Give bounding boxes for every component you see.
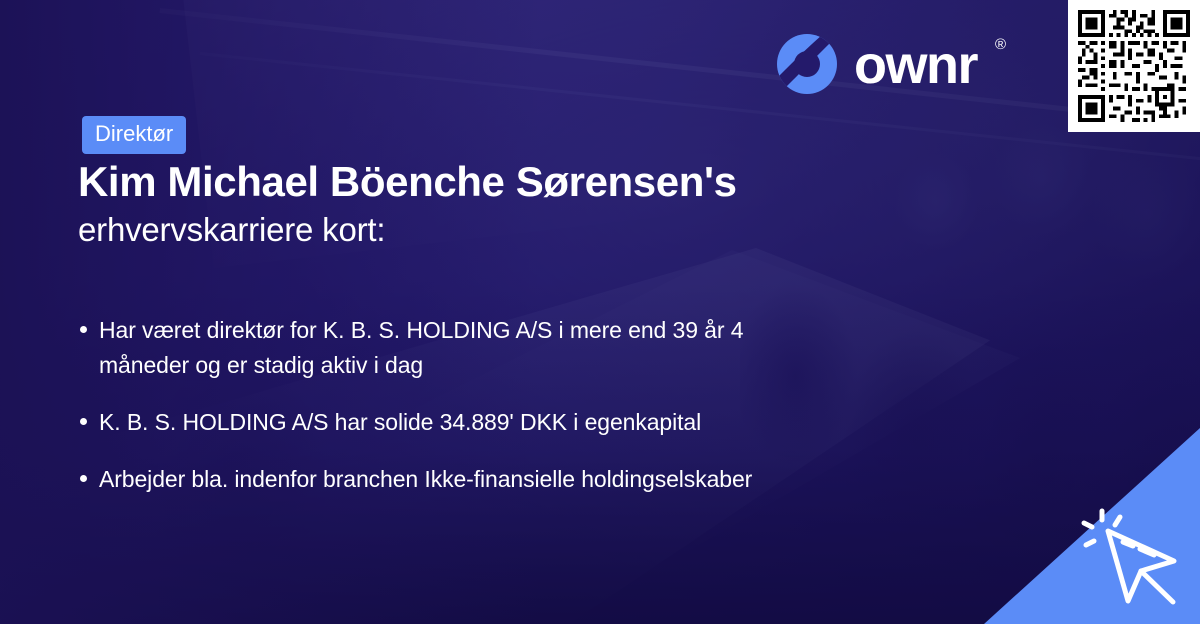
headline-subtitle: erhvervskarriere kort: (78, 209, 1078, 250)
ownr-logo[interactable]: ownr ® (776, 33, 1004, 95)
qr-code-icon (1078, 10, 1190, 122)
click-cursor-icon (1078, 503, 1188, 608)
page-title: Kim Michael Böenche Sørensen's erhvervsk… (78, 158, 1078, 250)
qr-code[interactable] (1068, 0, 1200, 132)
career-facts-list: Har været direktør for K. B. S. HOLDING … (80, 313, 1080, 497)
background-vignette (0, 0, 1200, 624)
ownr-circle-swoosh-icon (776, 33, 838, 95)
list-item: Arbejder bla. indenfor branchen Ikke-fin… (80, 462, 1080, 497)
list-item-text: Arbejder bla. indenfor branchen Ikke-fin… (99, 462, 752, 497)
list-item: Har været direktør for K. B. S. HOLDING … (80, 313, 1080, 383)
bullet-dot-icon (80, 475, 87, 482)
list-item-text: Har været direktør for K. B. S. HOLDING … (99, 313, 839, 383)
list-item: K. B. S. HOLDING A/S har solide 34.889' … (80, 405, 1080, 440)
bullet-dot-icon (80, 418, 87, 425)
role-badge: Direktør (82, 116, 186, 154)
promo-card: ownr ® (0, 0, 1200, 624)
registered-trademark-icon: ® (995, 36, 1006, 53)
ownr-wordmark: ownr (854, 38, 977, 92)
headline-person-name: Kim Michael Böenche Sørensen's (78, 158, 1078, 205)
bullet-dot-icon (80, 326, 87, 333)
list-item-text: K. B. S. HOLDING A/S har solide 34.889' … (99, 405, 701, 440)
